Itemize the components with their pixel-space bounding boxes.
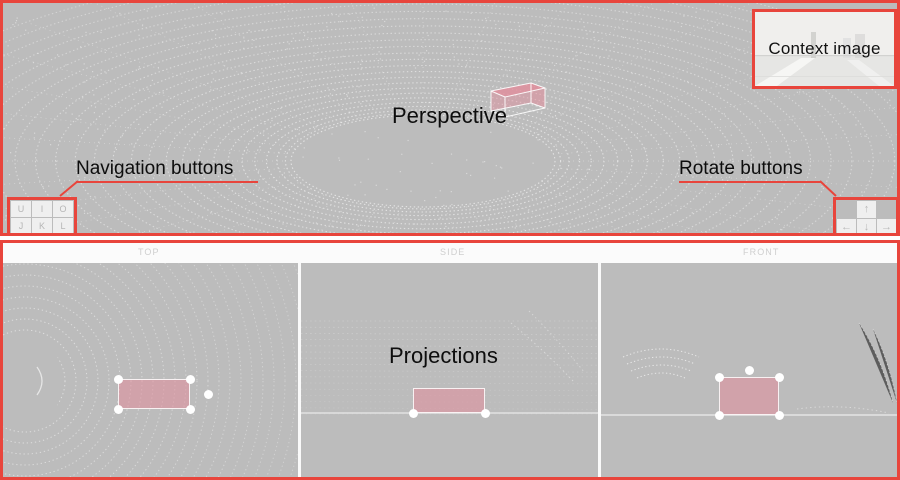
rotate-left-button[interactable]: ← <box>837 219 856 236</box>
callout-rotate-buttons-leader <box>818 178 842 200</box>
callout-navigation-buttons-rule <box>76 181 258 183</box>
projection-view-top[interactable] <box>3 263 298 477</box>
projections-overlay-label: Projections <box>389 343 498 369</box>
projection-header-front: FRONT <box>743 247 780 257</box>
top-view-handle-se[interactable] <box>186 405 195 414</box>
nav-key-l[interactable]: L <box>53 218 73 234</box>
callout-navigation-buttons-label: Navigation buttons <box>76 158 233 180</box>
rotate-right-button[interactable]: → <box>877 219 896 236</box>
perspective-overlay-label: Perspective <box>392 103 507 129</box>
rotate-up-button[interactable]: ↑ <box>857 201 876 218</box>
front-view-handle-nw[interactable] <box>715 373 724 382</box>
front-view-handle-ne[interactable] <box>775 373 784 382</box>
top-view-handle-sw[interactable] <box>114 405 123 414</box>
top-view-handle-nw[interactable] <box>114 375 123 384</box>
callout-navigation-buttons-leader <box>56 178 84 200</box>
projection-view-front[interactable] <box>601 263 897 477</box>
nav-key-u[interactable]: U <box>11 201 31 217</box>
side-view-handle-bl[interactable] <box>409 409 418 418</box>
rotate-buttons-group[interactable]: ↑ ← ↓ → <box>833 197 899 236</box>
front-view-handle-sw[interactable] <box>715 411 724 420</box>
top-view-handle-ne[interactable] <box>186 375 195 384</box>
nav-key-i[interactable]: I <box>32 201 52 217</box>
navigation-buttons-group[interactable]: U I O J K L <box>7 197 77 236</box>
front-view-handle-se[interactable] <box>775 411 784 420</box>
rotate-down-button[interactable]: ↓ <box>857 219 876 236</box>
nav-key-o[interactable]: O <box>53 201 73 217</box>
projections-header-bar: TOP SIDE FRONT <box>3 243 897 263</box>
projections-panel[interactable]: TOP SIDE FRONT <box>0 240 900 480</box>
projection-header-top: TOP <box>138 247 160 257</box>
front-view-handle-top[interactable] <box>745 366 754 375</box>
projection-header-side: SIDE <box>440 247 465 257</box>
callout-rotate-buttons-rule <box>679 181 821 183</box>
context-image-panel[interactable]: Context image <box>752 9 897 89</box>
side-view-point-cloud <box>301 263 598 477</box>
side-view-annotation-box[interactable] <box>413 388 485 413</box>
nav-key-j[interactable]: J <box>11 218 31 234</box>
perspective-panel[interactable]: Perspective Context image U I O J K <box>0 0 900 236</box>
nav-key-k[interactable]: K <box>32 218 52 234</box>
top-view-point-cloud <box>3 263 298 477</box>
annotation-tool-window: Perspective Context image U I O J K <box>0 0 900 480</box>
callout-rotate-buttons-label: Rotate buttons <box>679 158 803 180</box>
projections-body <box>3 263 897 477</box>
top-view-handle-heading[interactable] <box>204 390 213 399</box>
top-view-annotation-box[interactable] <box>118 379 190 409</box>
projection-view-side[interactable] <box>301 263 598 477</box>
front-view-annotation-box[interactable] <box>719 377 779 415</box>
side-view-handle-br[interactable] <box>481 409 490 418</box>
context-image-label: Context image <box>755 39 894 59</box>
